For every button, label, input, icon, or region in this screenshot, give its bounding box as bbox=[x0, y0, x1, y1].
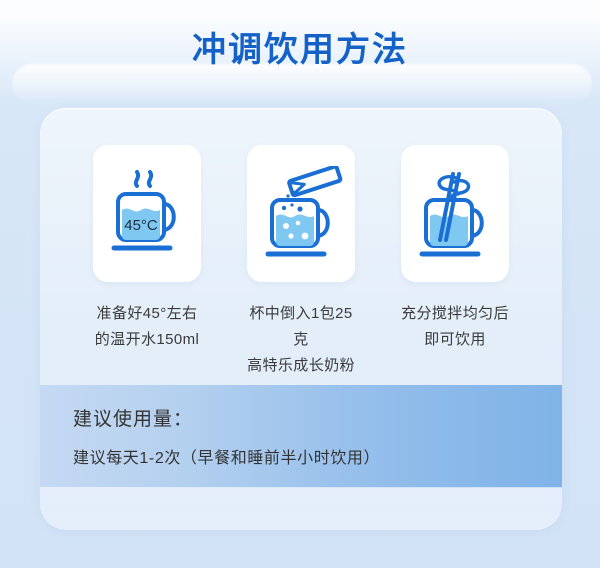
step-3-icon-tile bbox=[401, 145, 509, 282]
step-2: 杯中倒入1包25克 高特乐成长奶粉 bbox=[247, 145, 355, 379]
step-2-icon-tile bbox=[247, 145, 355, 282]
stir-mug-icon bbox=[412, 166, 498, 262]
step-3: 充分搅拌均匀后 即可饮用 bbox=[401, 145, 509, 379]
instructions-card: 45°C 准备好45°左右 的温开水150ml bbox=[40, 108, 562, 530]
steps-row: 45°C 准备好45°左右 的温开水150ml bbox=[40, 145, 562, 379]
dosage-banner-title: 建议使用量： bbox=[73, 404, 193, 431]
pour-sachet-mug-icon bbox=[258, 166, 344, 262]
step-1-icon-tile: 45°C bbox=[93, 145, 201, 282]
warm-water-mug-icon: 45°C bbox=[104, 166, 190, 262]
page-title: 冲调饮用方法 bbox=[0, 22, 600, 71]
dosage-banner: 建议使用量： 建议每天1-2次（早餐和睡前半小时饮用） bbox=[40, 385, 562, 488]
dosage-banner-subtitle: 建议每天1-2次（早餐和睡前半小时饮用） bbox=[73, 444, 380, 468]
step-3-caption: 充分搅拌均匀后 即可饮用 bbox=[401, 301, 509, 353]
step-1: 45°C 准备好45°左右 的温开水150ml bbox=[93, 145, 201, 379]
step-2-caption: 杯中倒入1包25克 高特乐成长奶粉 bbox=[247, 301, 355, 379]
step-1-icon-label: 45°C bbox=[124, 217, 158, 234]
step-1-caption: 准备好45°左右 的温开水150ml bbox=[95, 301, 199, 353]
